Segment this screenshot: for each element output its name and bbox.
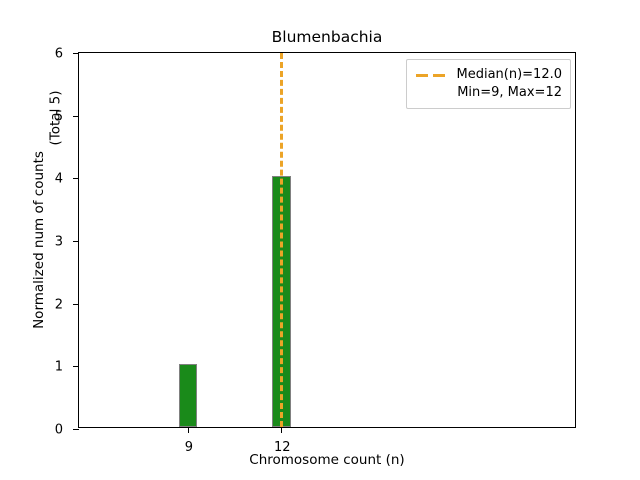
x-axis-label: Chromosome count (n) [78, 452, 576, 468]
y-axis-tick: 3 [73, 241, 79, 242]
y-axis-tick-label: 2 [55, 298, 63, 311]
y-axis-tick: 2 [73, 304, 79, 305]
chart-legend: Median(n)=12.0Min=9, Max=12 [406, 59, 571, 109]
y-axis-tick: 5 [73, 116, 79, 117]
y-axis-tick-label: 4 [55, 173, 63, 186]
y-axis-tick: 6 [73, 53, 79, 54]
y-axis-tick: 4 [73, 178, 79, 179]
figure-canvas: Blumenbachia Normalized num of counts (T… [0, 0, 640, 480]
y-axis-label-text: Normalized num of counts [31, 151, 47, 329]
y-axis-tick-label: 6 [55, 48, 63, 61]
legend-dash-segment [433, 74, 445, 77]
page-title: Blumenbachia [78, 28, 576, 47]
legend-label-minmax: Min=9, Max=12 [457, 84, 562, 102]
plot-area: 0123456912 Median(n)=12.0Min=9, Max=12 [78, 52, 576, 428]
bar [179, 364, 198, 427]
legend-text-block: Median(n)=12.0Min=9, Max=12 [456, 66, 562, 102]
median-line-annotation [280, 53, 283, 427]
y-axis-tick: 1 [73, 366, 79, 367]
legend-dash-segment [416, 74, 428, 77]
plot-inner: 0123456912 [79, 53, 575, 427]
y-axis-tick-label: 1 [55, 361, 63, 374]
legend-label-median: Median(n)=12.0 [456, 66, 562, 84]
legend-dashed-line-icon [415, 67, 449, 83]
y-axis-tick-label: 3 [55, 236, 63, 249]
y-axis-tick-label: 0 [55, 424, 63, 437]
y-axis-tick: 0 [73, 429, 79, 430]
y-axis-tick-label: 5 [55, 110, 63, 123]
x-axis-tick: 9 [188, 427, 189, 433]
x-axis-tick: 12 [281, 427, 282, 433]
